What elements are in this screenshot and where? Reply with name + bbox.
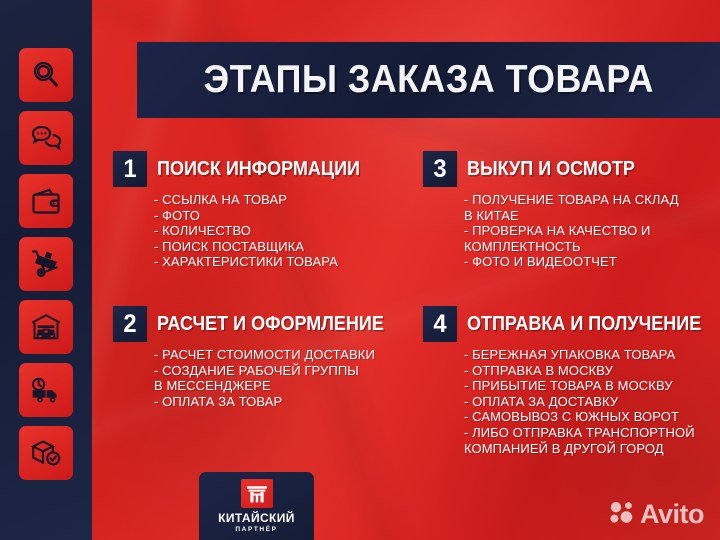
- steps-grid: 1 ПОИСК ИНФОРМАЦИИ ССЫЛКА НА ТОВАР ФОТО …: [112, 150, 720, 456]
- logo-name: КИТАЙСКИЙ: [218, 511, 295, 525]
- list-item: ХАРАКТЕРИСТИКИ ТОВАРА: [154, 254, 422, 270]
- step-title: ВЫКУП И ОСМОТР: [467, 158, 635, 181]
- brand-logo: КИТАЙСКИЙ ПАРТНЁР: [199, 472, 314, 540]
- title-banner: ЭТАПЫ ЗАКАЗА ТОВАРА: [137, 42, 720, 118]
- list-item: ПОИСК ПОСТАВЩИКА: [154, 239, 422, 255]
- list-item: СОЗДАНИЕ РАБОЧЕЙ ГРУППЫ В МЕССЕНДЖЕРЕ: [154, 363, 422, 394]
- step-1: 1 ПОИСК ИНФОРМАЦИИ ССЫЛКА НА ТОВАР ФОТО …: [112, 150, 422, 305]
- wallet-icon: [19, 174, 73, 228]
- list-item: ОТПРАВКА В МОСКВУ: [464, 363, 720, 379]
- list-item: БЕРЕЖНАЯ УПАКОВКА ТОВАРА: [464, 347, 720, 363]
- list-item: ПРИБЫТИЕ ТОВАРА В МОСКВУ: [464, 378, 720, 394]
- list-item: ФОТО: [154, 208, 422, 224]
- step-2: 2 РАСЧЕТ И ОФОРМЛЕНИЕ РАСЧЕТ СТОИМОСТИ Д…: [112, 305, 422, 456]
- step-header: 3 ВЫКУП И ОСМОТР: [422, 150, 720, 188]
- list-item: ССЫЛКА НА ТОВАР: [154, 192, 422, 208]
- list-item: ЛИБО ОТПРАВКА ТРАНСПОРТНОЙ КОМПАНИЕЙ В Д…: [464, 425, 720, 456]
- step-bullet-list: РАСЧЕТ СТОИМОСТИ ДОСТАВКИ СОЗДАНИЕ РАБОЧ…: [154, 347, 422, 409]
- step-header: 1 ПОИСК ИНФОРМАЦИИ: [112, 150, 422, 188]
- step-number-badge: 4: [423, 306, 457, 342]
- logo-subtitle: ПАРТНЁР: [235, 526, 277, 533]
- page-title: ЭТАПЫ ЗАКАЗА ТОВАРА: [203, 58, 653, 102]
- step-header: 2 РАСЧЕТ И ОФОРМЛЕНИЕ: [112, 305, 422, 343]
- torii-gate-icon: [241, 479, 273, 508]
- delivery-truck-clock-icon: [19, 363, 73, 417]
- step-3: 3 ВЫКУП И ОСМОТР ПОЛУЧЕНИЕ ТОВАРА НА СКЛ…: [422, 150, 720, 305]
- chat-bubbles-icon: [19, 111, 73, 165]
- step-4: 4 ОТПРАВКА И ПОЛУЧЕНИЕ БЕРЕЖНАЯ УПАКОВКА…: [422, 305, 720, 456]
- icon-sidebar: [0, 0, 92, 540]
- step-bullet-list: БЕРЕЖНАЯ УПАКОВКА ТОВАРА ОТПРАВКА В МОСК…: [464, 347, 720, 456]
- package-check-icon: [19, 426, 73, 480]
- step-bullet-list: ССЫЛКА НА ТОВАР ФОТО КОЛИЧЕСТВО ПОИСК ПО…: [154, 192, 422, 270]
- avito-watermark: Avito: [609, 499, 704, 530]
- step-number-badge: 1: [113, 151, 147, 187]
- list-item: ОПЛАТА ЗА ДОСТАВКУ: [464, 394, 720, 410]
- magnifier-icon: [19, 48, 73, 102]
- avito-dots-icon: [609, 501, 635, 529]
- step-title: РАСЧЕТ И ОФОРМЛЕНИЕ: [157, 313, 384, 336]
- avito-wordmark: Avito: [640, 499, 704, 530]
- step-title: ПОИСК ИНФОРМАЦИИ: [157, 158, 360, 181]
- warehouse-icon: [19, 300, 73, 354]
- list-item: ФОТО И ВИДЕООТЧЕТ: [464, 254, 720, 270]
- list-item: ПРОВЕРКА НА КАЧЕСТВО И КОМПЛЕКТНОСТЬ: [464, 223, 720, 254]
- step-bullet-list: ПОЛУЧЕНИЕ ТОВАРА НА СКЛАД В КИТАЕ ПРОВЕР…: [464, 192, 720, 270]
- step-header: 4 ОТПРАВКА И ПОЛУЧЕНИЕ: [422, 305, 720, 343]
- step-number-badge: 2: [113, 306, 147, 342]
- step-number-badge: 3: [423, 151, 457, 187]
- list-item: ПОЛУЧЕНИЕ ТОВАРА НА СКЛАД В КИТАЕ: [464, 192, 720, 223]
- hand-truck-icon: [19, 237, 73, 291]
- poster: ЭТАПЫ ЗАКАЗА ТОВАРА 1 ПОИСК ИНФОРМАЦИИ С…: [0, 0, 720, 540]
- list-item: РАСЧЕТ СТОИМОСТИ ДОСТАВКИ: [154, 347, 422, 363]
- list-item: САМОВЫВОЗ С ЮЖНЫХ ВОРОТ: [464, 409, 720, 425]
- step-title: ОТПРАВКА И ПОЛУЧЕНИЕ: [467, 313, 701, 336]
- list-item: ОПЛАТА ЗА ТОВАР: [154, 394, 422, 410]
- list-item: КОЛИЧЕСТВО: [154, 223, 422, 239]
